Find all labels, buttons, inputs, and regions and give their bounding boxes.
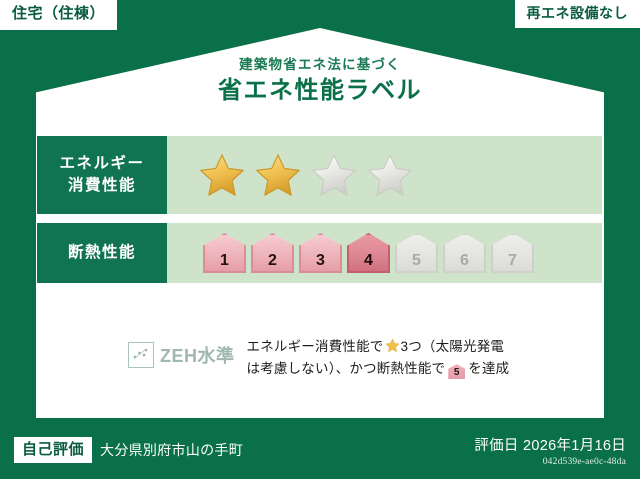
metric-label-line1: エネルギー — [59, 153, 144, 175]
star-icon-filled — [199, 152, 245, 198]
insulation-grade-7: 7 — [491, 233, 534, 273]
grade-number: 6 — [460, 252, 469, 270]
metric-label-insulation: 断熱性能 — [37, 223, 167, 283]
insulation-grade-6: 6 — [443, 233, 486, 273]
renewable-equipment-tag: 再エネ設備なし — [515, 0, 640, 28]
zeh-note-line1-b: 3つ（太陽光発電 — [401, 339, 505, 354]
grade-number: 3 — [316, 252, 325, 270]
star-icon-empty — [311, 152, 357, 198]
inline-grade-badge: 5 — [448, 364, 465, 379]
insulation-grade-5: 5 — [395, 233, 438, 273]
grade-number: 4 — [364, 252, 373, 270]
label-footer: 自己評価 大分県別府市山の手町 評価日 2026年1月16日 042d539e-… — [0, 421, 640, 479]
zeh-label: ZEH水準 — [160, 342, 235, 368]
star-rating — [199, 152, 413, 198]
zeh-note-line-1: エネルギー消費性能で3つ（太陽光発電 — [247, 336, 510, 358]
zeh-note-line1-a: エネルギー消費性能で — [247, 339, 384, 354]
zeh-standard-mark: ZEH水準 — [128, 336, 235, 368]
star-icon-empty — [367, 152, 413, 198]
grade-number: 7 — [508, 252, 517, 270]
evaluation-id: 042d539e-ae0c-48da — [474, 457, 626, 467]
star-icon — [385, 338, 400, 353]
evaluation-date: 評価日 2026年1月16日 — [474, 434, 626, 455]
metric-value-insulation: 1234567 — [167, 223, 602, 283]
metric-rows: エネルギー 消費性能 断熱性能 1234567 — [37, 136, 602, 292]
zeh-note-text: エネルギー消費性能で3つ（太陽光発電 は考慮しない）、かつ断熱性能で5を達成 — [247, 336, 510, 381]
zeh-note-line-2: は考慮しない）、かつ断熱性能で5を達成 — [247, 358, 510, 380]
inline-grade-number: 5 — [454, 367, 460, 378]
metric-label-energy-consumption: エネルギー 消費性能 — [37, 136, 167, 214]
metric-label-line2: 消費性能 — [68, 175, 136, 197]
metric-value-energy-consumption — [167, 136, 602, 214]
grade-number: 2 — [268, 252, 277, 270]
metric-row-insulation: 断熱性能 1234567 — [37, 223, 602, 283]
zeh-note: ZEH水準 エネルギー消費性能で3つ（太陽光発電 は考慮しない）、かつ断熱性能で… — [128, 336, 509, 381]
zeh-note-line2-a: は考慮しない）、かつ断熱性能で — [247, 361, 446, 376]
grade-number: 1 — [220, 252, 229, 270]
insulation-grade-1: 1 — [203, 233, 246, 273]
metric-row-energy-consumption: エネルギー 消費性能 — [37, 136, 602, 214]
self-evaluation-badge: 自己評価 — [14, 437, 92, 463]
energy-saving-performance-label: 住宅（住棟） 再エネ設備なし 建築物省エネ法に基づく 省エネ性能ラベル エネルギ… — [0, 0, 640, 479]
grade-number: 5 — [412, 252, 421, 270]
zeh-dots-icon — [128, 342, 154, 368]
evaluation-info: 評価日 2026年1月16日 042d539e-ae0c-48da — [474, 434, 626, 467]
insulation-grade-4: 4 — [347, 233, 390, 273]
building-address: 大分県別府市山の手町 — [100, 440, 243, 460]
building-type-tag: 住宅（住棟） — [0, 0, 117, 30]
metric-label-line1: 断熱性能 — [68, 242, 136, 264]
zeh-note-line2-b: を達成 — [468, 361, 509, 376]
star-icon-filled — [255, 152, 301, 198]
insulation-grade-2: 2 — [251, 233, 294, 273]
insulation-grade-scale: 1234567 — [199, 233, 534, 273]
insulation-grade-3: 3 — [299, 233, 342, 273]
